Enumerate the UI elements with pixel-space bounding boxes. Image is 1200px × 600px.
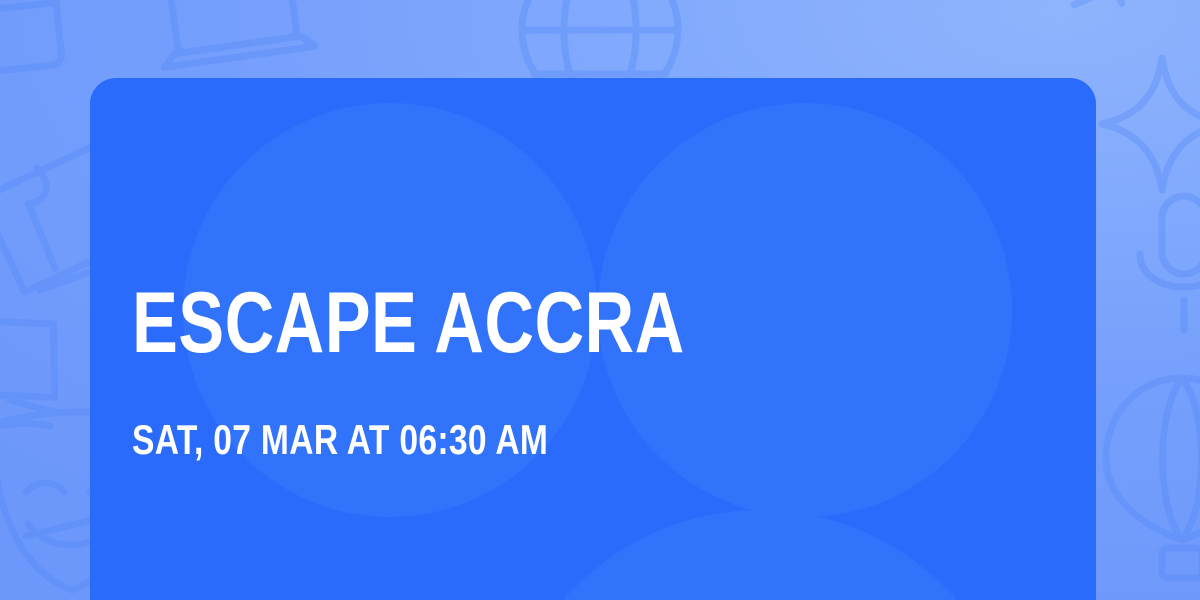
confetti-icon [9,400,55,412]
event-title: ESCAPE ACCRA [132,280,685,366]
confetti-icon [1040,0,1160,29]
event-datetime: SAT, 07 MAR AT 06:30 AM [132,419,548,461]
event-card[interactable]: ESCAPE ACCRA SAT, 07 MAR AT 06:30 AM [90,78,1096,600]
event-card-content: ESCAPE ACCRA SAT, 07 MAR AT 06:30 AM [132,78,832,600]
calendar-icon [0,0,62,75]
laptop-icon [152,0,315,67]
ticket-icon [0,306,67,411]
sparkle-icon [1102,58,1200,190]
microphone-icon [1140,196,1200,330]
poster-canvas: ESCAPE ACCRA SAT, 07 MAR AT 06:30 AM [0,0,1200,600]
hot-air-balloon-icon [1106,378,1200,578]
